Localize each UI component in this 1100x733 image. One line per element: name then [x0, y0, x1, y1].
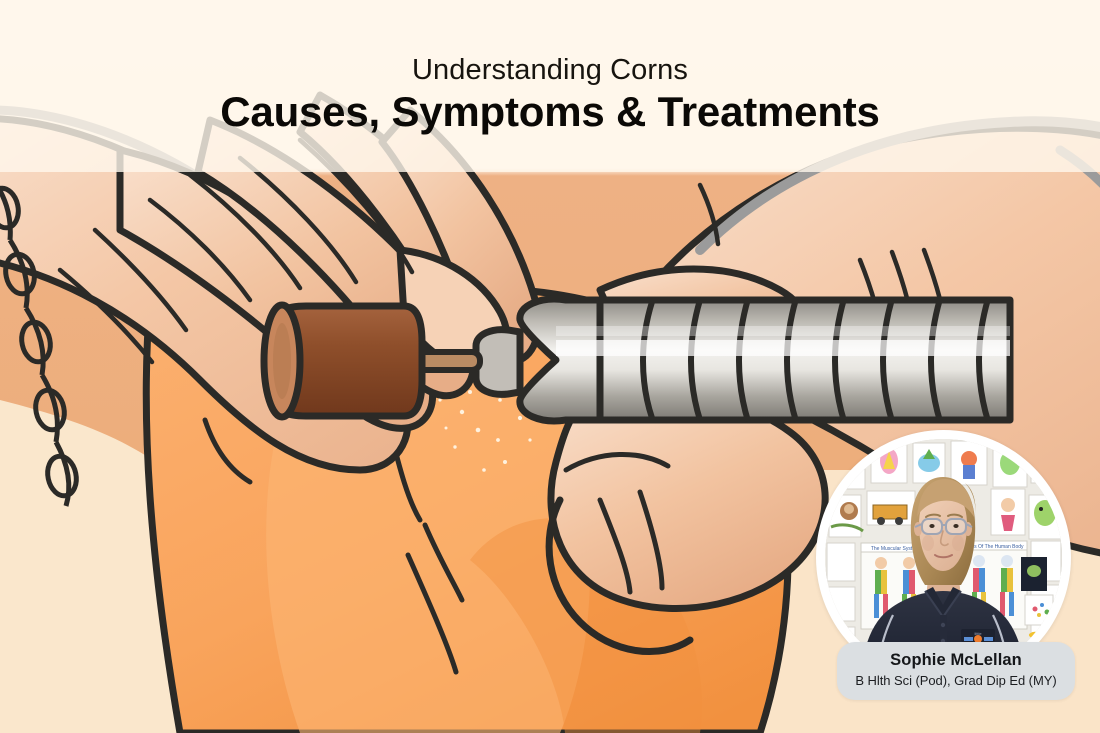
- svg-text:The Muscular System: The Muscular System: [871, 546, 919, 552]
- avatar: The Muscular System: [825, 439, 1062, 676]
- presenter-credentials: B Hlth Sci (Pod), Grad Dip Ed (MY): [847, 673, 1065, 689]
- presenter-card: The Muscular System: [816, 430, 1088, 702]
- presenter-name: Sophie McLellan: [847, 651, 1065, 671]
- image-canvas: Understanding Corns Causes, Symptoms & T…: [0, 0, 1100, 733]
- presenter-nameplate: Sophie McLellan B Hlth Sci (Pod), Grad D…: [837, 642, 1075, 700]
